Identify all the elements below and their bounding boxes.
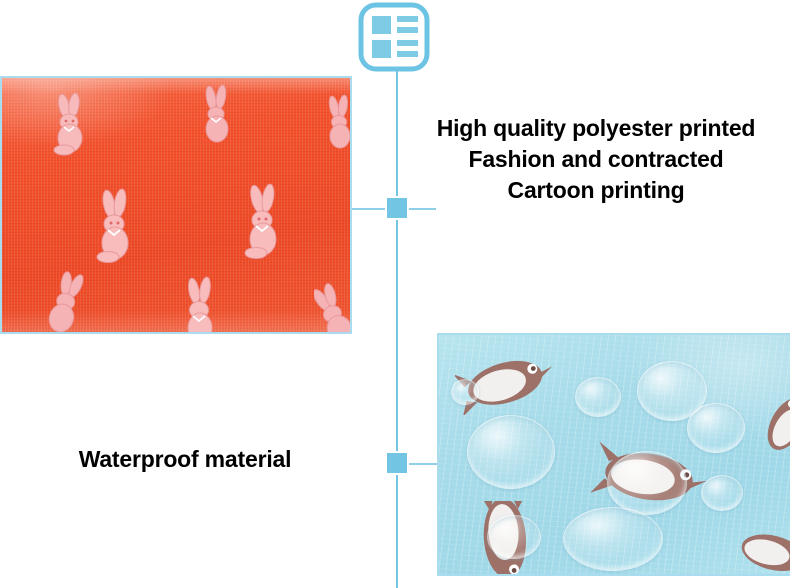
connector-node-1 <box>385 196 409 220</box>
vertical-connector-line <box>396 70 398 588</box>
bunny-motif <box>314 282 352 334</box>
feature-printing-caption: High quality polyester printed Fashion a… <box>410 113 782 206</box>
water-droplet <box>701 475 743 511</box>
caption-line: Waterproof material <box>20 444 350 474</box>
water-droplet <box>451 379 479 405</box>
water-droplet <box>467 415 555 489</box>
water-droplet <box>575 377 621 417</box>
bunny-motif <box>94 188 138 264</box>
infographic-canvas: High quality polyester printed Fashion a… <box>0 0 790 588</box>
penguin-motif <box>731 523 790 576</box>
red-bunny-fabric-photo <box>0 76 352 334</box>
bunny-motif <box>180 276 222 334</box>
penguin-motif <box>755 387 790 461</box>
feature-waterproof-caption: Waterproof material <box>20 444 350 474</box>
bunny-motif <box>198 84 238 146</box>
bunny-motif <box>322 94 352 152</box>
water-droplet <box>607 451 687 515</box>
blue-penguin-fabric-photo <box>437 333 790 576</box>
caption-line: High quality polyester printed <box>410 113 782 144</box>
water-droplet <box>563 507 663 571</box>
bunny-motif <box>50 92 92 158</box>
caption-line: Fashion and contracted <box>410 144 782 175</box>
connector-node-2 <box>385 451 409 475</box>
bunny-motif <box>240 182 286 260</box>
water-droplet <box>687 403 745 453</box>
caption-line: Cartoon printing <box>410 175 782 206</box>
water-droplet <box>487 515 541 559</box>
layout-list-icon <box>357 2 431 72</box>
bunny-motif <box>46 270 88 334</box>
